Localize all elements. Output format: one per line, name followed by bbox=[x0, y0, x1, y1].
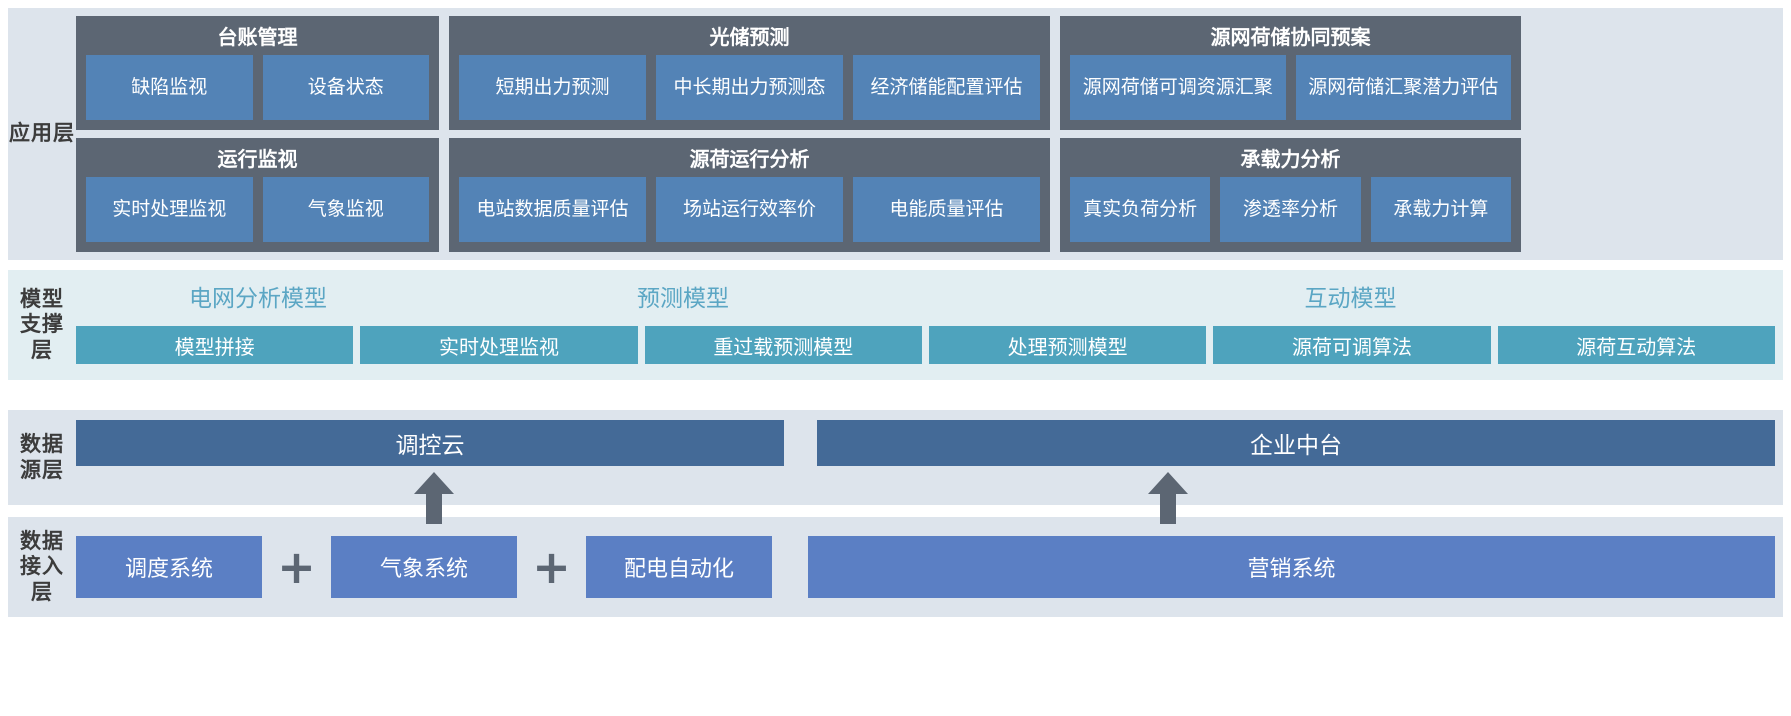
group-items: 短期出力预测 中长期出力预测态 经济储能配置评估 bbox=[459, 55, 1040, 120]
group-title: 源荷运行分析 bbox=[459, 144, 1040, 177]
app-item-zhenshifuhefenxi[interactable]: 真实负荷分析 bbox=[1070, 177, 1210, 242]
application-row-2: 运行监视 实时处理监视 气象监视 源荷运行分析 电站数据质量评估 场站运行效率价… bbox=[76, 138, 1775, 252]
group-title: 光储预测 bbox=[459, 22, 1040, 55]
app-item-shebeizhuangtai[interactable]: 设备状态 bbox=[263, 55, 430, 120]
group-title: 承载力分析 bbox=[1070, 144, 1511, 177]
app-item-duanqichuliyuce[interactable]: 短期出力预测 bbox=[459, 55, 646, 120]
source-box-qiyezhongtai[interactable]: 企业中台 bbox=[817, 420, 1775, 466]
data-access-layer: 数据 接入 层 调度系统 + 气象系统 + 配电自动化 营销系统 bbox=[8, 517, 1783, 617]
app-item-shishichulijianshi[interactable]: 实时处理监视 bbox=[86, 177, 253, 242]
arrow-up-icon-to-qiyezhongtai bbox=[1148, 472, 1188, 524]
group-items: 源网荷储可调资源汇聚 源网荷储汇聚潜力评估 bbox=[1070, 55, 1511, 120]
group-yuanwanghechuxietongyuan[interactable]: 源网荷储协同预案 源网荷储可调资源汇聚 源网荷储汇聚潜力评估 bbox=[1060, 16, 1521, 130]
app-item-jingjichunengpeizhipinggu[interactable]: 经济储能配置评估 bbox=[853, 55, 1040, 120]
app-item-ketiaoziyuanhuiju[interactable]: 源网荷储可调资源汇聚 bbox=[1070, 55, 1286, 120]
model-heading-hudongmoxing: 互动模型 bbox=[926, 279, 1775, 313]
plus-icon-2: + bbox=[517, 544, 586, 590]
app-item-diannengzhiliangpinggu[interactable]: 电能质量评估 bbox=[853, 177, 1040, 242]
model-support-layer-label: 模型 支撑 层 bbox=[8, 270, 76, 380]
application-row-1: 台账管理 缺陷监视 设备状态 光储预测 短期出力预测 中长期出力预测态 经济储能… bbox=[76, 16, 1775, 130]
group-items: 电站数据质量评估 场站运行效率价 电能质量评估 bbox=[459, 177, 1040, 242]
app-item-huijuqianlipinggu[interactable]: 源网荷储汇聚潜力评估 bbox=[1296, 55, 1512, 120]
source-box-diaokongyun[interactable]: 调控云 bbox=[76, 420, 784, 466]
application-layer-body: 台账管理 缺陷监视 设备状态 光储预测 短期出力预测 中长期出力预测态 经济储能… bbox=[76, 16, 1775, 252]
data-source-layer-body: 调控云 企业中台 bbox=[76, 410, 1775, 505]
data-source-layer: 数据 源层 调控云 企业中台 bbox=[8, 410, 1783, 505]
application-layer: 应用层 台账管理 缺陷监视 设备状态 光储预测 短期出力预测 中长期出力预测态 bbox=[8, 8, 1783, 260]
model-support-layer: 模型 支撑 层 电网分析模型 预测模型 互动模型 模型拼接 实时处理监视 重过载… bbox=[8, 270, 1783, 380]
arrow-up-icon-to-diaokongyun bbox=[414, 472, 454, 524]
application-layer-label: 应用层 bbox=[8, 16, 76, 252]
model-boxes: 模型拼接 实时处理监视 重过载预测模型 处理预测模型 源荷可调算法 源荷互动算法 bbox=[76, 322, 1775, 380]
app-item-dianzhanshujuzhiliangpinggu[interactable]: 电站数据质量评估 bbox=[459, 177, 646, 242]
access-box-peidianzidonghua[interactable]: 配电自动化 bbox=[586, 536, 772, 598]
group-taizhangguanli[interactable]: 台账管理 缺陷监视 设备状态 bbox=[76, 16, 439, 130]
data-access-layer-label: 数据 接入 层 bbox=[8, 517, 76, 617]
data-access-layer-body: 调度系统 + 气象系统 + 配电自动化 营销系统 bbox=[76, 517, 1775, 617]
model-box-yuanhehudongsuanfa[interactable]: 源荷互动算法 bbox=[1498, 326, 1775, 364]
model-box-zhongguozaiyucemoxing[interactable]: 重过载预测模型 bbox=[645, 326, 922, 364]
group-chengzailifenxi[interactable]: 承载力分析 真实负荷分析 渗透率分析 承载力计算 bbox=[1060, 138, 1521, 252]
app-item-shentoulvfenxi[interactable]: 渗透率分析 bbox=[1220, 177, 1360, 242]
model-headings: 电网分析模型 预测模型 互动模型 bbox=[76, 270, 1775, 322]
group-title: 源网荷储协同预案 bbox=[1070, 22, 1511, 55]
group-title: 台账管理 bbox=[86, 22, 429, 55]
group-items: 实时处理监视 气象监视 bbox=[86, 177, 429, 242]
group-guangchuyuce[interactable]: 光储预测 短期出力预测 中长期出力预测态 经济储能配置评估 bbox=[449, 16, 1050, 130]
model-box-yuanheketiaosuanfa[interactable]: 源荷可调算法 bbox=[1213, 326, 1490, 364]
model-heading-dianwangfenximoxing: 电网分析模型 bbox=[76, 279, 440, 313]
group-yuanheyunxingfenxi[interactable]: 源荷运行分析 电站数据质量评估 场站运行效率价 电能质量评估 bbox=[449, 138, 1050, 252]
app-item-qixiangjianshi[interactable]: 气象监视 bbox=[263, 177, 430, 242]
access-box-qixiangxitong[interactable]: 气象系统 bbox=[331, 536, 517, 598]
app-item-quexianjianshi[interactable]: 缺陷监视 bbox=[86, 55, 253, 120]
access-box-yingxiaoxitong[interactable]: 营销系统 bbox=[808, 536, 1775, 598]
plus-icon-1: + bbox=[262, 544, 331, 590]
access-box-diaoduxitong[interactable]: 调度系统 bbox=[76, 536, 262, 598]
app-item-zhongchangqichuliyuce[interactable]: 中长期出力预测态 bbox=[656, 55, 843, 120]
app-item-chengzailijisuan[interactable]: 承载力计算 bbox=[1371, 177, 1511, 242]
group-title: 运行监视 bbox=[86, 144, 429, 177]
group-items: 真实负荷分析 渗透率分析 承载力计算 bbox=[1070, 177, 1511, 242]
model-box-shishichulijianshi[interactable]: 实时处理监视 bbox=[360, 326, 637, 364]
model-support-layer-body: 电网分析模型 预测模型 互动模型 模型拼接 实时处理监视 重过载预测模型 处理预… bbox=[76, 270, 1775, 380]
data-source-layer-label: 数据 源层 bbox=[8, 410, 76, 505]
model-heading-yucemoxing: 预测模型 bbox=[440, 279, 926, 313]
model-box-chuliyucemoxing[interactable]: 处理预测模型 bbox=[929, 326, 1206, 364]
group-yunxingjianshi[interactable]: 运行监视 实时处理监视 气象监视 bbox=[76, 138, 439, 252]
model-box-moxingpinjie[interactable]: 模型拼接 bbox=[76, 326, 353, 364]
architecture-diagram: 应用层 台账管理 缺陷监视 设备状态 光储预测 短期出力预测 中长期出力预测态 bbox=[0, 0, 1791, 716]
app-item-changzhanyunxingxiaolvjia[interactable]: 场站运行效率价 bbox=[656, 177, 843, 242]
group-items: 缺陷监视 设备状态 bbox=[86, 55, 429, 120]
